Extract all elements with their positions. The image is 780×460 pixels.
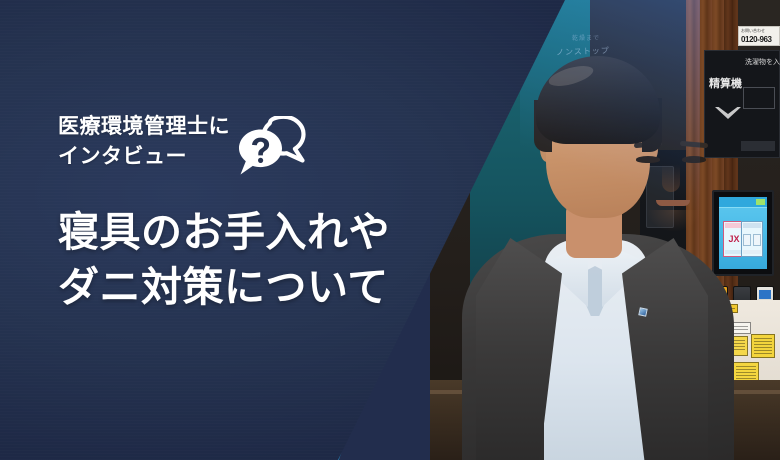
- eye-left: [636, 156, 660, 163]
- mouth: [656, 200, 690, 206]
- phone-caption: お問い合わせ: [741, 28, 765, 34]
- page-title: 寝具のお手入れや ダニ対策について: [58, 205, 478, 316]
- banner-content: 医療環境管理士に インタビュー 寝具のお手入れや ダニ対策について: [58, 112, 478, 316]
- photo-phone-label: お問い合わせ 0120-963: [738, 26, 780, 46]
- warning-label: [751, 334, 775, 358]
- headline-line-2: ダニ対策について: [58, 264, 389, 310]
- eyebrow-row: 医療環境管理士に インタビュー: [58, 112, 478, 183]
- eyebrow-line-2: インタビュー: [58, 142, 230, 172]
- eyebrow-text: 医療環境管理士に インタビュー: [58, 112, 230, 172]
- overlay-caption: ノンストップ: [556, 45, 610, 58]
- eyebrow-right: [680, 141, 708, 148]
- headline-line-1: 寝具のお手入れや: [58, 209, 390, 255]
- chin: [646, 210, 702, 232]
- hair: [536, 56, 660, 144]
- eye-right: [682, 156, 706, 163]
- lapel-pin-icon: [638, 307, 647, 316]
- question-speech-bubble-icon: [236, 116, 312, 183]
- sign-subtext: 洗濯物を入れ: [745, 57, 780, 67]
- overlay-caption-small: 乾燥まで: [572, 33, 600, 42]
- eyebrow-line-1: 医療環境管理士に: [58, 112, 230, 142]
- sign-box: [743, 87, 775, 109]
- kiosk-option-card: [741, 221, 763, 257]
- phone-number: 0120-963: [741, 35, 772, 44]
- interview-hero-banner: 洗濯物を入れ 精算機 お問い合わせ 0120-963 JX: [0, 0, 780, 460]
- nose: [662, 164, 680, 192]
- sign-footer-bar: [741, 141, 775, 151]
